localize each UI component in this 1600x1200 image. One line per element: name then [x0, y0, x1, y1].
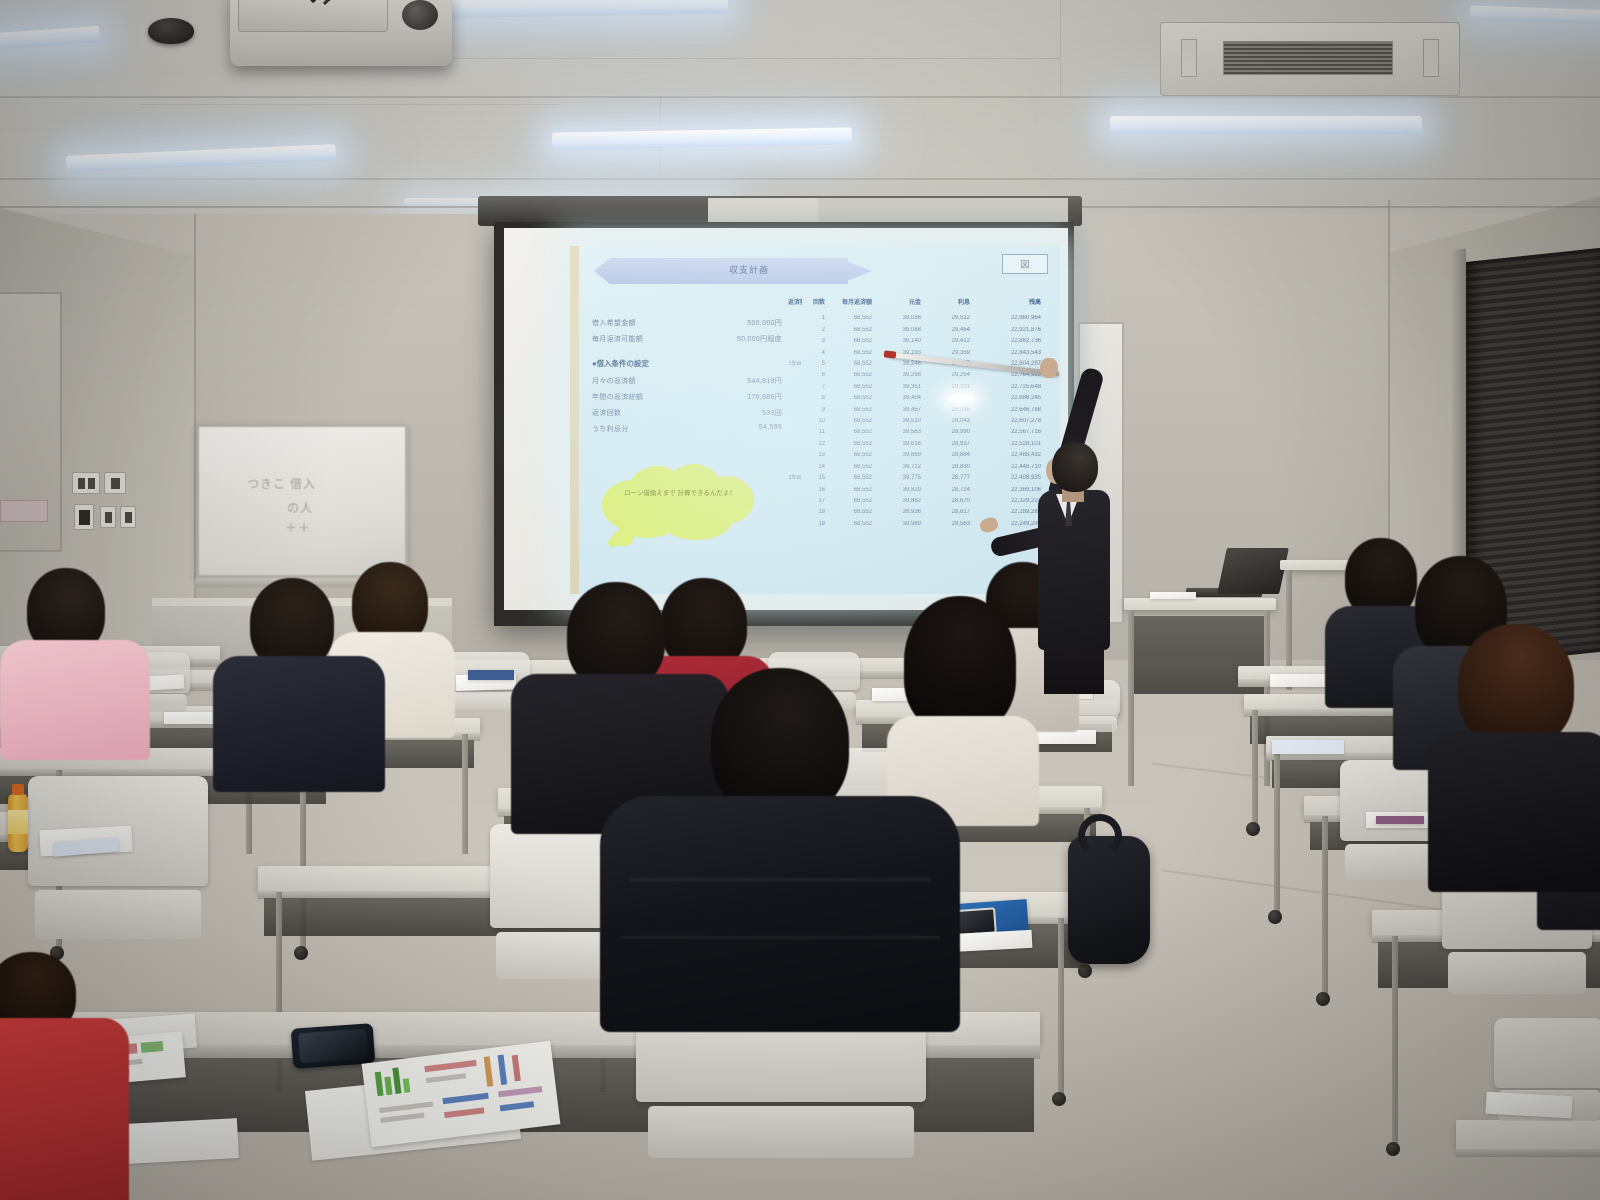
slide-table-row: 268,55239,08829,46422,921,876	[788, 325, 1050, 336]
ceiling-seam	[0, 96, 1600, 98]
slide-table-cell: 68,552	[828, 370, 872, 381]
ac-vane	[1181, 39, 1197, 77]
slide-table-cell: 39,088	[875, 325, 921, 336]
slide-left-edge-band	[570, 246, 579, 594]
slide-kv-value: 176,886円	[747, 392, 782, 402]
slide-table-cell: 3	[805, 336, 825, 347]
slide-kv-value: 533回	[762, 408, 782, 418]
chair[interactable]	[28, 776, 208, 966]
slide-table-cell: 7	[805, 382, 825, 393]
slide-kv-value: 50,000円程度	[737, 334, 782, 344]
slide-table-cell: 39,775	[875, 473, 921, 484]
slide-table-cell	[788, 519, 802, 530]
presenter-raised-hand	[1040, 358, 1058, 378]
slide-table-row: 368,55239,14029,41222,882,736	[788, 336, 1050, 347]
presenter-head	[1052, 442, 1098, 492]
slide-section-heading: ●借入条件の設定	[592, 358, 782, 369]
slide-table-cell: 68,552	[828, 519, 872, 530]
ceiling-panel-line	[1060, 0, 1061, 96]
slide-logo-text: 図	[1020, 258, 1029, 271]
whiteboard-ink: つきこ 借入	[247, 475, 316, 492]
ceiling-air-conditioner	[1160, 22, 1460, 96]
slide-table-cell: 68,552	[828, 427, 872, 438]
slide-table-cell: 2年目	[788, 473, 802, 484]
desk-leg	[1392, 936, 1398, 1146]
slide-speech-bubble-text: ローン借換えまで 計算できるんだよ！	[620, 488, 740, 499]
slide-table-cell	[788, 405, 802, 416]
ceiling-projector	[230, 0, 452, 66]
slide-table-cell: 68,552	[828, 496, 872, 507]
presenter	[996, 358, 1120, 658]
slide-table-header-cell: 利息	[924, 298, 970, 309]
desk-leg	[1322, 816, 1328, 996]
slide-table-cell: 29,464	[924, 325, 970, 336]
slide-table-cell: 29,043	[924, 416, 970, 427]
pointer-tip	[884, 350, 897, 358]
puffer-seam	[622, 936, 940, 939]
slide-kv-row: 借入希望金額 500,000円	[592, 318, 782, 328]
slide-table-cell: 28,777	[924, 473, 970, 484]
slide-left-text-column: 借入希望金額 500,000円 毎月返済可能額 50,000円程度 ●借入条件の…	[592, 318, 782, 440]
slide-table-cell: 68,552	[828, 439, 872, 450]
desk-caster	[1316, 992, 1330, 1006]
attendee-body	[0, 640, 150, 760]
slide-table-cell: 39,882	[875, 496, 921, 507]
slide-kv-row: うち利息分 54,599	[592, 424, 782, 434]
slide-table-cell: 39,036	[875, 313, 921, 324]
slide-table-cell: 28,617	[924, 507, 970, 518]
slide-table-cell: 68,552	[828, 450, 872, 461]
slide-table-cell: 39,989	[875, 519, 921, 530]
slide-table-header-row: 返済額 回数 毎月返済額 元金 利息 残高	[788, 298, 1050, 309]
slide-kv-row: 月々の返済額 544,819円	[592, 376, 782, 386]
slide-table-cell: 2	[805, 325, 825, 336]
dome-detector-icon	[148, 18, 194, 44]
slide-table-cell: 68,552	[828, 485, 872, 496]
ceiling-light	[1110, 116, 1422, 134]
wall-panel-plate[interactable]	[74, 504, 94, 530]
slide-table-cell	[788, 462, 802, 473]
slide-table-cell	[788, 450, 802, 461]
slide-table-cell: 68,552	[828, 405, 872, 416]
slide-table-cell: 39,563	[875, 427, 921, 438]
slide-table-cell: 39,457	[875, 405, 921, 416]
attendee-bottom-left-red	[0, 952, 128, 1200]
slide-table-cell: 1年目	[788, 359, 802, 370]
slide-table-cell: 4	[805, 348, 825, 359]
wall-panel-plate[interactable]	[100, 506, 116, 528]
slide-kv-label: うち利息分	[592, 424, 629, 434]
handout-papers[interactable]	[1030, 730, 1096, 744]
orange-juice-bottle[interactable]	[8, 794, 28, 852]
presenter-torso	[1038, 490, 1110, 650]
desk-caster	[1386, 1142, 1400, 1156]
attendee-body	[600, 796, 960, 1032]
ac-grille	[1223, 41, 1393, 75]
handout-papers[interactable]	[164, 712, 220, 724]
slide-table-cell: 39,669	[875, 450, 921, 461]
attendee-left-navy	[214, 578, 384, 778]
handout-papers[interactable]	[1485, 1092, 1572, 1118]
attendee-head	[1458, 624, 1574, 748]
desk-leg	[1274, 754, 1280, 914]
slide-table-cell: 16	[805, 485, 825, 496]
slide-table-cell	[788, 393, 802, 404]
slide-kv-label: 借入希望金額	[592, 318, 636, 328]
slide-table-cell: 39,298	[875, 370, 921, 381]
slide-banner-title: 収支計画	[674, 263, 824, 276]
slide-kv-label: 返済回数	[592, 408, 621, 418]
slide-table-cell: 39,351	[875, 382, 921, 393]
slide-table-cell: 5	[805, 359, 825, 370]
screen-housing-cap	[818, 198, 1068, 224]
slide-table-cell: 15	[805, 473, 825, 484]
slide-table-cell: 68,552	[828, 359, 872, 370]
bottle-cap	[12, 784, 24, 795]
slide-table-header-cell: 毎月返済額	[828, 298, 872, 309]
presenter-desk-papers	[1150, 592, 1196, 599]
notebook[interactable]	[468, 670, 514, 680]
attendee-body	[0, 1018, 129, 1200]
slide-table-cell: 39,246	[875, 359, 921, 370]
slide-table-cell: 28,670	[924, 496, 970, 507]
slide-table-cell	[788, 507, 802, 518]
slide-table-cell: 28,884	[924, 450, 970, 461]
slide-table-cell: 39,140	[875, 336, 921, 347]
slide-table-header-cell: 回数	[805, 298, 825, 309]
handout-papers[interactable]	[1272, 740, 1344, 754]
bottle-label	[8, 810, 28, 834]
smartphone[interactable]	[291, 1023, 376, 1069]
slide-table-cell: 39,404	[875, 393, 921, 404]
slide-table-cell: 29,254	[924, 370, 970, 381]
slide-table-cell: 28,990	[924, 427, 970, 438]
slide-table-cell	[788, 485, 802, 496]
slide-table-cell	[788, 336, 802, 347]
whiteboard-ink: の人	[287, 499, 313, 516]
slide-table-cell: 13	[805, 450, 825, 461]
slide-table-header-cell: 残高	[973, 298, 1041, 309]
desk-leg	[1252, 710, 1258, 826]
slide-table-cell	[788, 416, 802, 427]
slide-table-cell: 28,830	[924, 462, 970, 473]
slide-table-cell	[788, 382, 802, 393]
smartphone-screen	[298, 1029, 368, 1064]
slide-table-cell: 68,552	[828, 348, 872, 359]
slide-table-cell: 68,552	[828, 325, 872, 336]
ceiling-seam	[0, 178, 1600, 180]
slide-table-cell: 9	[805, 405, 825, 416]
ac-vane	[1423, 39, 1439, 77]
attendee-front-puffer-jacket	[600, 668, 960, 1028]
projector-cables	[302, 0, 422, 8]
slide-table-cell: 10	[805, 416, 825, 427]
black-backpack[interactable]	[1068, 836, 1150, 964]
slide-speech-bubble: ローン借換えまで 計算できるんだよ！	[594, 464, 758, 538]
screen-housing-cap	[708, 198, 828, 224]
slide-table-cell: 22,882,736	[973, 336, 1041, 347]
slide-table-cell: 14	[805, 462, 825, 473]
desk-leg	[462, 734, 468, 854]
slide-table-cell: 39,722	[875, 462, 921, 473]
slide-kv-row: 年間の返済総額 176,886円	[592, 392, 782, 402]
light-switch-plate[interactable]	[72, 472, 100, 494]
slide-table-cell	[788, 439, 802, 450]
slide-kv-value: 544,819円	[747, 376, 782, 386]
classroom-photo-scene: つきこ 借入 の人 ＋＋ 収支計画 図 借入希望金額	[0, 0, 1600, 1200]
slide-table-cell: 68,552	[828, 382, 872, 393]
slide-table-cell: 28,563	[924, 519, 970, 530]
attendee-right-front-black	[1430, 624, 1600, 874]
presentation-slide: 収支計画 図 借入希望金額 500,000円 毎月返済可能額 50,000円程度…	[570, 246, 1060, 594]
handout-accent	[1376, 816, 1424, 824]
attendee-body	[213, 656, 385, 792]
chair[interactable]	[1494, 1018, 1600, 1138]
desk-caster	[1246, 822, 1260, 836]
slide-table-cell: 39,829	[875, 485, 921, 496]
slide-table-cell: 18	[805, 507, 825, 518]
slide-table-cell: 39,510	[875, 416, 921, 427]
slide-table-cell: 12	[805, 439, 825, 450]
presenter-laptop-screen[interactable]	[1217, 548, 1289, 594]
slide-logo-box: 図	[1002, 254, 1048, 274]
slide-table-cell: 39,616	[875, 439, 921, 450]
slide-table-cell: 29,412	[924, 336, 970, 347]
slide-kv-label: 年間の返済総額	[592, 392, 643, 402]
slide-table-cell: 28,724	[924, 485, 970, 496]
pointer-light-glint	[948, 394, 974, 403]
slide-table-group-label: 返済額	[788, 298, 802, 309]
slide-table-cell	[788, 496, 802, 507]
slide-table-cell: 1	[805, 313, 825, 324]
slide-table-cell	[788, 348, 802, 359]
slide-table-cell: 39,936	[875, 507, 921, 518]
wall-panel-plate[interactable]	[120, 506, 136, 528]
slide-table-cell: 68,552	[828, 473, 872, 484]
door-sign	[0, 500, 48, 522]
slide-table-cell: 68,552	[828, 507, 872, 518]
slide-table-header-cell: 元金	[875, 298, 921, 309]
slide-table-cell	[788, 427, 802, 438]
slide-kv-row: 毎月返済可能額 50,000円程度	[592, 334, 782, 344]
slide-table-cell: 19	[805, 519, 825, 530]
slide-table-cell: 11	[805, 427, 825, 438]
attendee-body	[1428, 732, 1600, 892]
slide-table-cell: 22,921,876	[973, 325, 1041, 336]
slide-kv-value: 500,000円	[747, 318, 782, 328]
desk-caster	[1052, 1092, 1066, 1106]
desk-caster	[294, 946, 308, 960]
slide-table-cell: 29,201	[924, 382, 970, 393]
desk-caster	[1268, 910, 1282, 924]
slide-table-cell: 28,937	[924, 439, 970, 450]
slide-table-cell: 68,552	[828, 336, 872, 347]
whiteboard: つきこ 借入 の人 ＋＋	[196, 424, 408, 578]
ceiling-panel-line	[140, 104, 560, 105]
slide-kv-label: 毎月返済可能額	[592, 334, 643, 344]
slide-table-row: 168,55239,03629,51222,980,964	[788, 313, 1050, 324]
slide-table-cell: 8	[805, 393, 825, 404]
slide-table-cell: 6	[805, 370, 825, 381]
slide-kv-row: 返済回数 533回	[592, 408, 782, 418]
slide-table-cell: 29,096	[924, 405, 970, 416]
slide-table-cell	[788, 325, 802, 336]
attendee-front-left-pink	[0, 568, 150, 748]
desk-leg	[1058, 918, 1064, 1098]
whiteboard-ink: ＋＋	[285, 519, 311, 536]
slide-table-cell	[788, 370, 802, 381]
ceiling-panel-line	[420, 58, 1060, 59]
slide-table-cell: 68,552	[828, 462, 872, 473]
slide-table-cell: 68,552	[828, 393, 872, 404]
slide-table-cell	[788, 313, 802, 324]
projection-screen-surface: 収支計画 図 借入希望金額 500,000円 毎月返済可能額 50,000円程度…	[504, 228, 1068, 610]
slide-kv-value: 54,599	[759, 424, 782, 434]
presenter-desk	[1124, 598, 1276, 610]
slide-table-cell: 29,512	[924, 313, 970, 324]
backpack-strap	[1078, 814, 1122, 858]
puffer-seam	[630, 878, 930, 881]
slide-table-cell: 68,552	[828, 313, 872, 324]
slide-table-cell: 22,980,964	[973, 313, 1041, 324]
slide-table-cell: 17	[805, 496, 825, 507]
light-switch-plate[interactable]	[104, 472, 126, 494]
slide-table-cell: 68,552	[828, 416, 872, 427]
slide-kv-label: 月々の返済額	[592, 376, 636, 386]
desk-leg	[1128, 610, 1134, 786]
